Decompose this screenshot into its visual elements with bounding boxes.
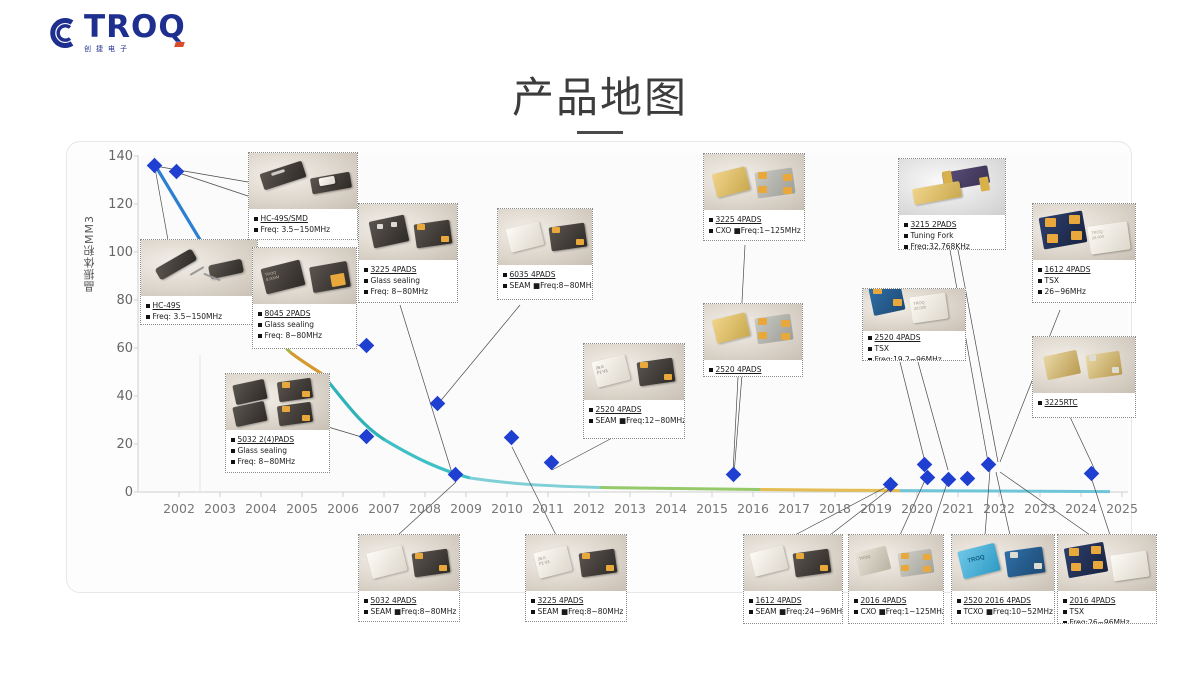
callout-detail: Freq:19.2~96MHz bbox=[868, 355, 960, 361]
callout-8045-2pads[interactable]: TROQ8.000M 8045 2PADS Glass sealing Freq… bbox=[252, 247, 357, 349]
callout-hc49s-smd[interactable]: HC-49S/SMD Freq: 3.5~150MHz bbox=[248, 152, 358, 240]
product-photo bbox=[1058, 535, 1156, 591]
callout-detail: Freq: 8~80MHz bbox=[231, 457, 324, 468]
callout-detail: Freq: 3.5~150MHz bbox=[254, 225, 352, 236]
x-tick-2014: 2014 bbox=[648, 501, 694, 516]
callout-title: 2016 4PADS bbox=[854, 596, 938, 607]
x-tick-2023: 2023 bbox=[1017, 501, 1063, 516]
callout-detail: Glass sealing bbox=[258, 320, 351, 331]
callout-2016-tsx[interactable]: 2016 4PADS TSX Freq:26~96MHz bbox=[1057, 534, 1157, 624]
brand-wordmark: TROQ bbox=[84, 12, 186, 43]
callout-detail: Freq:26~96MHz bbox=[1063, 618, 1151, 624]
callout-detail: 26~96MHz bbox=[1038, 287, 1130, 298]
y-tick-0: 0 bbox=[103, 485, 133, 500]
x-tick-2016: 2016 bbox=[730, 501, 776, 516]
callout-title: 3225 4PADS bbox=[709, 215, 799, 226]
y-tick-80: 80 bbox=[103, 293, 133, 308]
product-photo: 26.0F2 V3 bbox=[526, 535, 626, 591]
callout-detail: CXO ■Freq:1~125MHz bbox=[709, 376, 797, 377]
x-tick-2007: 2007 bbox=[361, 501, 407, 516]
y-tick-40: 40 bbox=[103, 389, 133, 404]
callout-2520-cxo[interactable]: 2520 4PADS CXO ■Freq:1~125MHz bbox=[703, 303, 803, 377]
x-tick-2021: 2021 bbox=[935, 501, 981, 516]
x-tick-2006: 2006 bbox=[320, 501, 366, 516]
x-tick-2008: 2008 bbox=[402, 501, 448, 516]
callout-1612-tsx[interactable]: TROQ26.000 1612 4PADS TSX 26~96MHz bbox=[1032, 203, 1136, 303]
y-axis-label: 晶振体积MM3 bbox=[82, 215, 98, 292]
callout-title: 2520 4PADS bbox=[709, 365, 797, 376]
callout-detail: CXO ■Freq:1~125MHz bbox=[854, 607, 938, 618]
y-tick-100: 100 bbox=[103, 245, 133, 260]
callout-detail: SEAM ■Freq:12~80MHz bbox=[589, 416, 679, 427]
title-underline bbox=[577, 131, 623, 134]
callout-3225-cxo[interactable]: 3225 4PADS CXO ■Freq:1~125MHz bbox=[703, 153, 805, 241]
callout-title: 1612 4PADS bbox=[749, 596, 837, 607]
x-tick-2010: 2010 bbox=[484, 501, 530, 516]
troq-logo-icon bbox=[44, 16, 78, 50]
product-photo bbox=[249, 153, 357, 209]
callout-detail: SEAM ■Freq:8~80MHz bbox=[503, 281, 587, 292]
x-tick-2019: 2019 bbox=[853, 501, 899, 516]
x-tick-2003: 2003 bbox=[197, 501, 243, 516]
product-photo bbox=[744, 535, 842, 591]
callout-6035-4pads[interactable]: 6035 4PADS SEAM ■Freq:8~80MHz bbox=[497, 208, 593, 300]
brand-subtext: 创捷电子 bbox=[84, 44, 186, 54]
callout-detail: Freq:32.768KHz bbox=[904, 242, 1000, 250]
page-title: 产品地图 bbox=[0, 64, 1200, 125]
x-tick-2004: 2004 bbox=[238, 501, 284, 516]
x-tick-2022: 2022 bbox=[976, 501, 1022, 516]
callout-detail: TSX bbox=[1063, 607, 1151, 618]
callout-2520-seam[interactable]: 26.0F2 V3 2520 4PADS SEAM ■Freq:12~80MHz bbox=[583, 343, 685, 439]
callout-detail: Freq: 3.5~150MHz bbox=[146, 312, 252, 323]
product-photo: 26.0F2 V3 bbox=[584, 344, 684, 400]
product-photo: TROQ bbox=[849, 535, 943, 591]
callout-title: 3215 2PADS bbox=[904, 220, 1000, 231]
callout-title: 3225 4PADS bbox=[531, 596, 621, 607]
callout-detail: TCXO ■Freq:10~52MHz bbox=[957, 607, 1049, 618]
callout-title: HC-49S bbox=[146, 301, 252, 312]
brand-logo: TROQ 创捷电子 bbox=[44, 12, 186, 54]
product-photo bbox=[899, 159, 1005, 215]
callout-3225-glass[interactable]: 3225 4PADS Glass sealing Freq: 8~80MHz bbox=[358, 203, 458, 303]
callout-detail: TSX bbox=[868, 344, 960, 355]
y-tick-120: 120 bbox=[103, 197, 133, 212]
callout-1612-seam[interactable]: 1612 4PADS SEAM ■Freq:24~96MHz bbox=[743, 534, 843, 624]
callout-2520-tsx[interactable]: TROQ26.000 2520 4PADS TSX Freq:19.2~96MH… bbox=[862, 288, 966, 361]
x-tick-2013: 2013 bbox=[607, 501, 653, 516]
callout-title: 2016 4PADS bbox=[1063, 596, 1151, 607]
x-tick-2011: 2011 bbox=[525, 501, 571, 516]
x-tick-2017: 2017 bbox=[771, 501, 817, 516]
callout-detail: CXO ■Freq:1~125MHz bbox=[709, 226, 799, 237]
x-tick-2018: 2018 bbox=[812, 501, 858, 516]
x-tick-2009: 2009 bbox=[443, 501, 489, 516]
callout-title: 6035 4PADS bbox=[503, 270, 587, 281]
product-photo bbox=[498, 209, 592, 265]
product-photo: TROQ bbox=[952, 535, 1054, 591]
x-tick-2002: 2002 bbox=[156, 501, 202, 516]
callout-title: 3225RTC bbox=[1038, 398, 1130, 409]
x-tick-2012: 2012 bbox=[566, 501, 612, 516]
callout-title: 8045 2PADS bbox=[258, 309, 351, 320]
product-photo bbox=[704, 304, 802, 360]
x-tick-2025: 2025 bbox=[1099, 501, 1145, 516]
callout-5032-2-4-pads[interactable]: 5032 2(4)PADS Glass sealing Freq: 8~80MH… bbox=[225, 373, 330, 473]
callout-2016-cxo[interactable]: TROQ 2016 4PADS CXO ■Freq:1~125MHz bbox=[848, 534, 944, 624]
x-tick-2020: 2020 bbox=[894, 501, 940, 516]
callout-title: 5032 4PADS bbox=[364, 596, 454, 607]
callout-detail: Tuning Fork bbox=[904, 231, 1000, 242]
callout-detail: Freq: 8~80MHz bbox=[258, 331, 351, 342]
product-photo: TROQ26.000 bbox=[863, 289, 965, 331]
product-photo bbox=[141, 240, 257, 296]
product-photo bbox=[359, 204, 457, 260]
callout-title: 2520 2016 4PADS bbox=[957, 596, 1049, 607]
callout-title: HC-49S/SMD bbox=[254, 214, 352, 225]
callout-detail: Glass sealing bbox=[231, 446, 324, 457]
callout-2520-2016-tcxo[interactable]: TROQ 2520 2016 4PADS TCXO ■Freq:10~52MHz bbox=[951, 534, 1055, 624]
x-tick-2015: 2015 bbox=[689, 501, 735, 516]
y-tick-20: 20 bbox=[103, 437, 133, 452]
y-tick-140: 140 bbox=[103, 149, 133, 164]
callout-title: 3225 4PADS bbox=[364, 265, 452, 276]
callout-3215-2pads[interactable]: 3215 2PADS Tuning Fork Freq:32.768KHz bbox=[898, 158, 1006, 250]
product-photo bbox=[1033, 337, 1135, 393]
logo-accent-mark bbox=[174, 42, 185, 47]
callout-detail: Glass sealing bbox=[364, 276, 452, 287]
callout-5032-seam[interactable]: 5032 4PADS SEAM ■Freq:8~80MHz bbox=[358, 534, 460, 622]
product-photo: TROQ8.000M bbox=[253, 248, 356, 304]
slide-root: TROQ 创捷电子 产品地图 晶振体积MM3 bbox=[0, 0, 1200, 674]
callout-title: 2520 4PADS bbox=[868, 333, 960, 344]
callout-hc49s[interactable]: HC-49S Freq: 3.5~150MHz bbox=[140, 239, 258, 325]
callout-title: 5032 2(4)PADS bbox=[231, 435, 324, 446]
product-photo: TROQ26.000 bbox=[1033, 204, 1135, 260]
product-photo bbox=[226, 374, 329, 430]
callout-detail: SEAM ■Freq:24~96MHz bbox=[749, 607, 837, 618]
callout-detail: Freq: 8~80MHz bbox=[364, 287, 452, 298]
callout-3225-seam[interactable]: 26.0F2 V3 3225 4PADS SEAM ■Freq:8~80MHz bbox=[525, 534, 627, 622]
x-tick-2024: 2024 bbox=[1058, 501, 1104, 516]
callout-detail: SEAM ■Freq:8~80MHz bbox=[364, 607, 454, 618]
callout-title: 1612 4PADS bbox=[1038, 265, 1130, 276]
callout-detail: TSX bbox=[1038, 276, 1130, 287]
product-photo bbox=[359, 535, 459, 591]
callout-3225rtc[interactable]: 3225RTC bbox=[1032, 336, 1136, 418]
x-tick-2005: 2005 bbox=[279, 501, 325, 516]
product-photo bbox=[704, 154, 804, 210]
callout-title: 2520 4PADS bbox=[589, 405, 679, 416]
y-tick-60: 60 bbox=[103, 341, 133, 356]
callout-detail: SEAM ■Freq:8~80MHz bbox=[531, 607, 621, 618]
